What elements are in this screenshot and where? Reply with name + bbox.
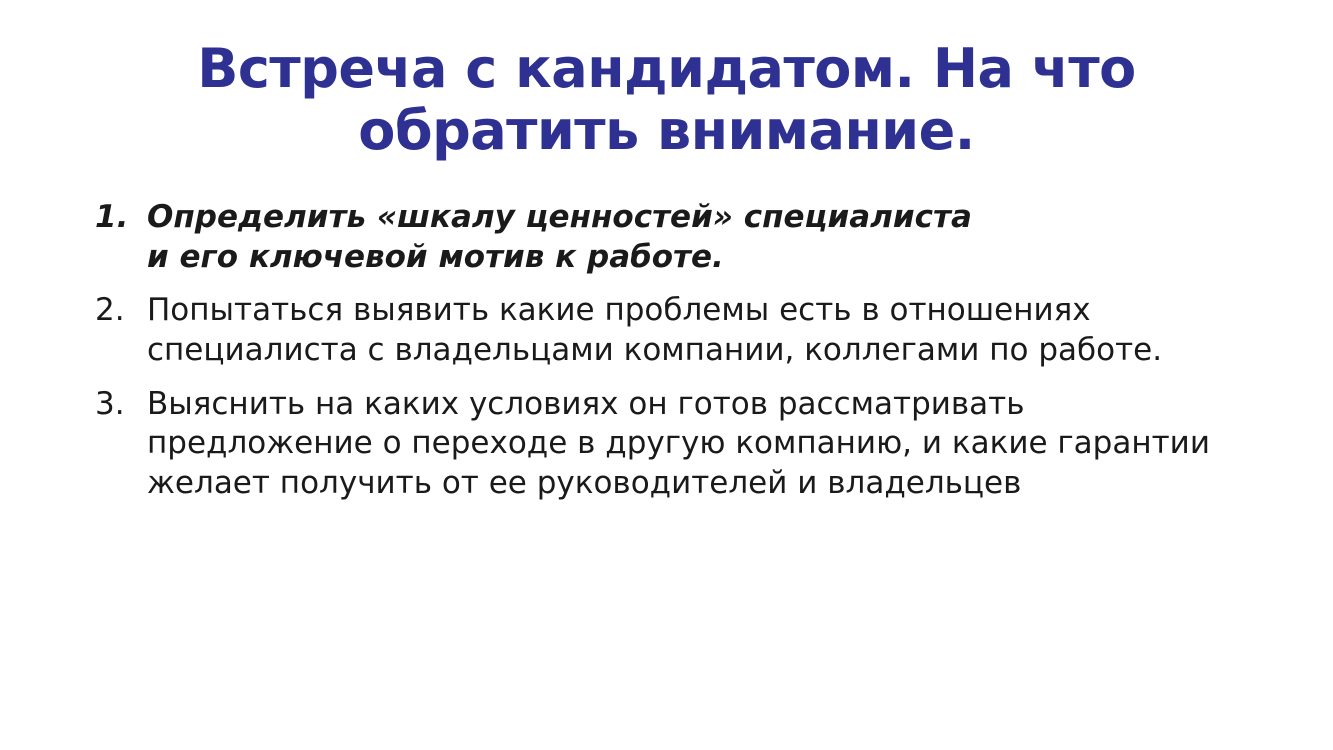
slide: Встреча с кандидатом. На что обратить вн…: [0, 0, 1333, 750]
list-item-marker: 2.: [95, 291, 147, 331]
numbered-list: 1. Определить «шкалу ценностей» специали…: [95, 198, 1255, 518]
list-item: 1. Определить «шкалу ценностей» специали…: [95, 198, 1255, 277]
list-item-marker: 1.: [95, 198, 147, 238]
list-item: 2. Попытаться выявить какие проблемы ест…: [95, 291, 1255, 370]
list-item: 3. Выяснить на каких условиях он готов р…: [95, 385, 1255, 504]
page-title: Встреча с кандидатом. На что обратить вн…: [100, 38, 1233, 162]
list-item-text: Выяснить на каких условиях он готов расс…: [147, 385, 1257, 504]
list-item-text: Определить «шкалу ценностей» специалиста…: [147, 198, 987, 277]
list-item-marker: 3.: [95, 385, 147, 425]
list-item-text: Попытаться выявить какие проблемы есть в…: [147, 291, 1207, 370]
